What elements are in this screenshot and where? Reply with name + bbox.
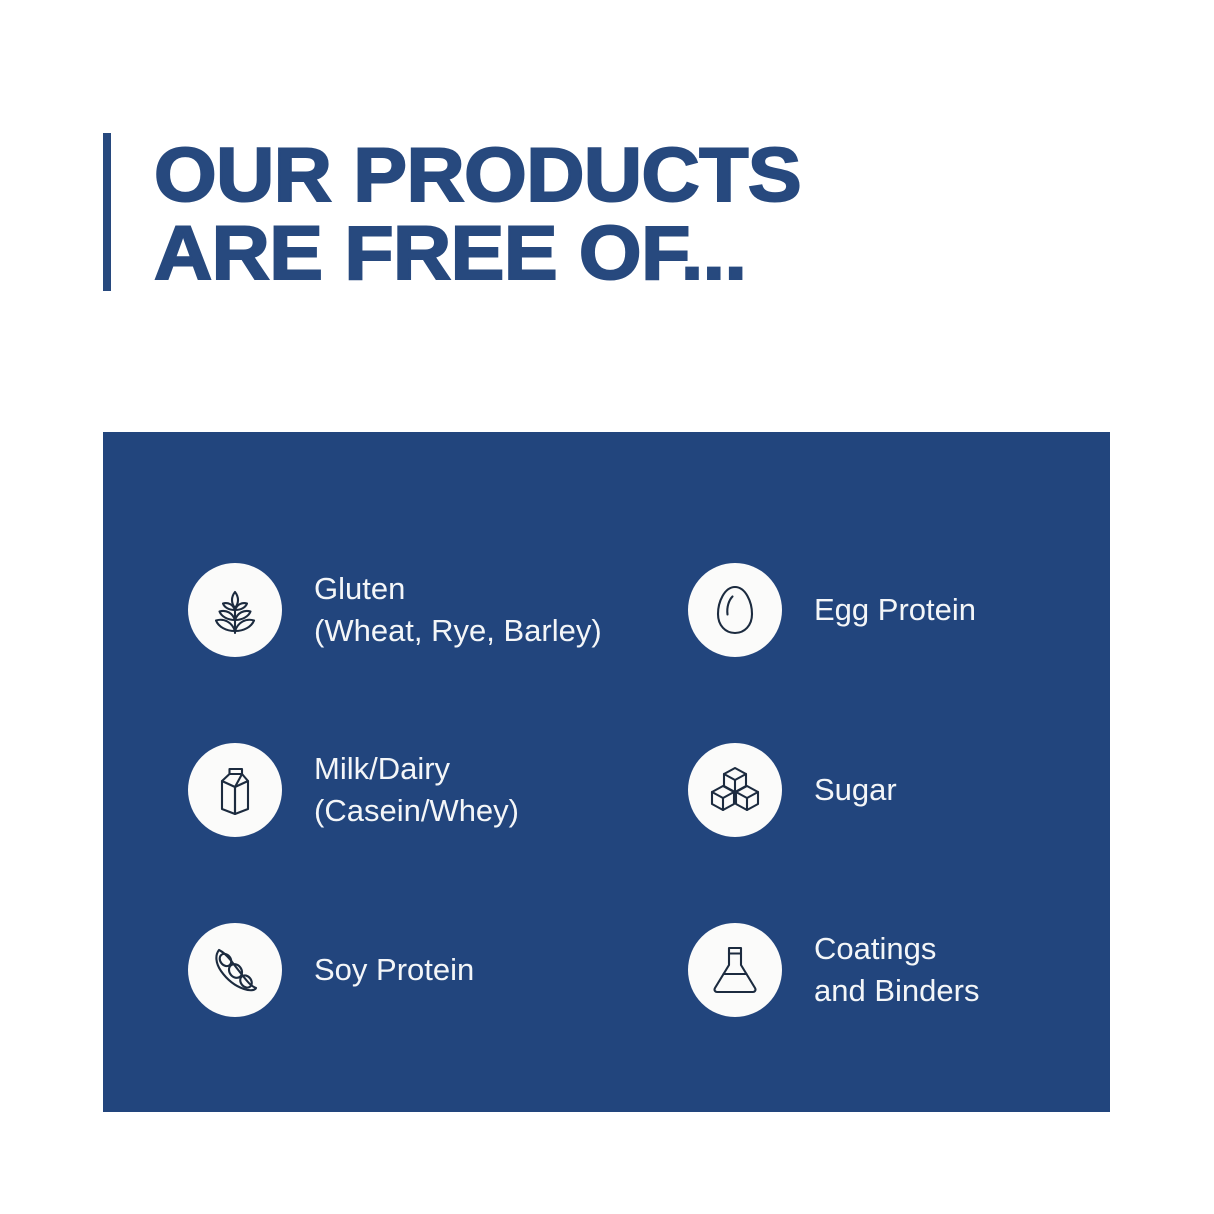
- list-item-label: Coatings and Binders: [814, 928, 979, 1012]
- free-of-grid: Gluten (Wheat, Rye, Barley) Egg Protein: [188, 520, 1088, 1060]
- egg-icon: [688, 563, 782, 657]
- list-item: Coatings and Binders: [688, 880, 1088, 1060]
- title-line-1: OUR PRODUCTS: [154, 137, 801, 215]
- soybean-pod-icon: [188, 923, 282, 1017]
- milk-carton-icon: [188, 743, 282, 837]
- sugar-cubes-icon: [688, 743, 782, 837]
- list-item-label: Sugar: [814, 769, 897, 811]
- list-item-label: Egg Protein: [814, 589, 976, 631]
- free-of-panel: Gluten (Wheat, Rye, Barley) Egg Protein: [103, 432, 1110, 1112]
- flask-icon: [688, 923, 782, 1017]
- list-item: Gluten (Wheat, Rye, Barley): [188, 520, 688, 700]
- list-item: Soy Protein: [188, 880, 688, 1060]
- list-item: Milk/Dairy (Casein/Whey): [188, 700, 688, 880]
- title-text: OUR PRODUCTS ARE FREE OF...: [154, 133, 801, 293]
- list-item-label: Soy Protein: [314, 949, 474, 991]
- wheat-icon: [188, 563, 282, 657]
- list-item-label: Gluten (Wheat, Rye, Barley): [314, 568, 602, 652]
- list-item: Egg Protein: [688, 520, 1088, 700]
- title-accent-bar: [103, 133, 111, 291]
- page-title: OUR PRODUCTS ARE FREE OF...: [103, 133, 764, 293]
- list-item: Sugar: [688, 700, 1088, 880]
- list-item-label: Milk/Dairy (Casein/Whey): [314, 748, 519, 832]
- title-line-2: ARE FREE OF...: [154, 215, 801, 293]
